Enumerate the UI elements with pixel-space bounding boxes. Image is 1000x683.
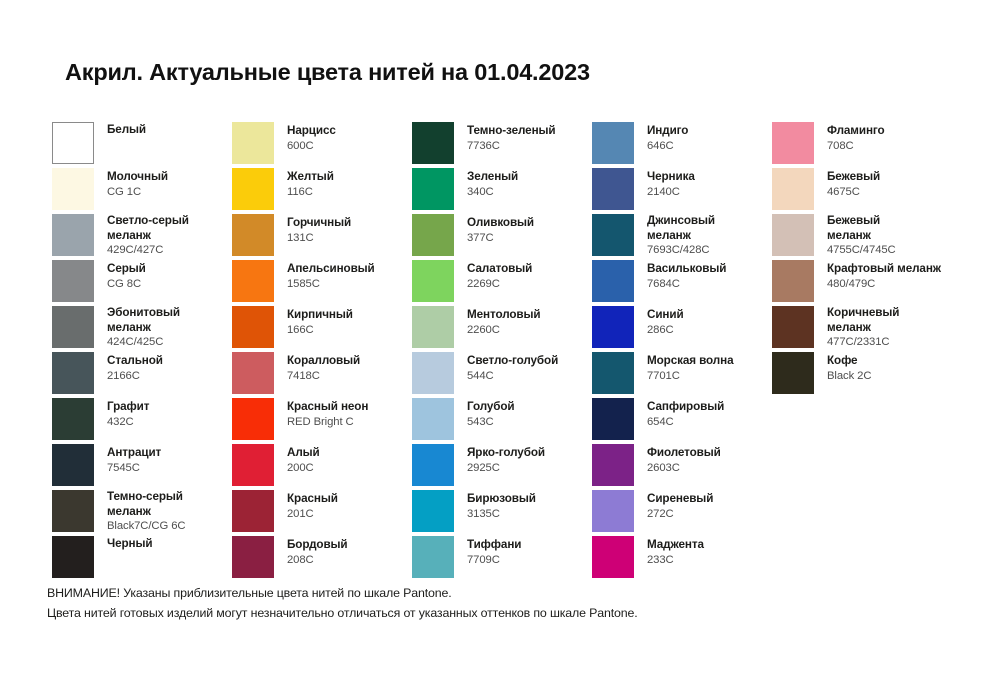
- color-code: 543C: [467, 415, 515, 430]
- color-code: 233C: [647, 553, 704, 568]
- color-name: Бежевый: [827, 214, 896, 229]
- color-code: 286C: [647, 323, 684, 338]
- color-labels: Коралловый7418C: [287, 352, 360, 383]
- color-name: Коричневый: [827, 306, 899, 321]
- color-row[interactable]: Алый200C: [232, 444, 412, 490]
- color-swatch[interactable]: [232, 214, 274, 256]
- color-swatch[interactable]: [772, 352, 814, 394]
- color-name: Сиреневый: [647, 492, 713, 507]
- color-code: 2925C: [467, 461, 545, 476]
- color-code: 201C: [287, 507, 338, 522]
- color-name: Бордовый: [287, 538, 348, 553]
- color-name: меланж: [647, 229, 715, 244]
- color-swatch[interactable]: [412, 260, 454, 302]
- color-row[interactable]: Салатовый2269C: [412, 260, 592, 306]
- color-row[interactable]: Оливковый377C: [412, 214, 592, 260]
- color-swatch[interactable]: [592, 168, 634, 210]
- color-swatch[interactable]: [412, 122, 454, 164]
- color-swatch[interactable]: [52, 260, 94, 302]
- color-name: Алый: [287, 446, 320, 461]
- color-row[interactable]: Ментоловый2260C: [412, 306, 592, 352]
- color-name: Джинсовый: [647, 214, 715, 229]
- color-code: 7736C: [467, 139, 556, 154]
- color-code: Black 2C: [827, 369, 871, 384]
- color-name: Коралловый: [287, 354, 360, 369]
- color-row[interactable]: Темно-зеленый7736C: [412, 122, 592, 168]
- color-swatch[interactable]: [772, 168, 814, 210]
- color-labels: КофеBlack 2C: [827, 352, 871, 383]
- color-labels: Бирюзовый3135C: [467, 490, 536, 521]
- color-row[interactable]: Стальной2166C: [52, 352, 232, 398]
- color-row[interactable]: Эбонитовыймеланж424C/425C: [52, 306, 232, 352]
- color-code: 2166C: [107, 369, 163, 384]
- color-row[interactable]: Желтый116C: [232, 168, 412, 214]
- color-row[interactable]: Васильковый7684C: [592, 260, 772, 306]
- color-code: 2269C: [467, 277, 532, 292]
- color-name: Черника: [647, 170, 695, 185]
- color-swatch[interactable]: [232, 490, 274, 532]
- color-name: Эбонитовый: [107, 306, 180, 321]
- color-labels: Синий286C: [647, 306, 684, 337]
- color-swatch[interactable]: [52, 214, 94, 256]
- color-labels: Ментоловый2260C: [467, 306, 540, 337]
- color-name: Белый: [107, 123, 146, 138]
- color-row[interactable]: Бордовый208C: [232, 536, 412, 582]
- color-name: Оливковый: [467, 216, 534, 231]
- color-swatch[interactable]: [412, 214, 454, 256]
- color-labels: Джинсовыймеланж7693C/428C: [647, 214, 715, 258]
- color-code: 7701C: [647, 369, 734, 384]
- color-code: 429C/427C: [107, 243, 189, 258]
- color-code: 544C: [467, 369, 558, 384]
- color-row[interactable]: МолочныйCG 1C: [52, 168, 232, 214]
- color-labels: Бордовый208C: [287, 536, 348, 567]
- color-labels: Черника2140C: [647, 168, 695, 199]
- color-name: Кирпичный: [287, 308, 353, 323]
- color-code: 2260C: [467, 323, 540, 338]
- color-row[interactable]: Красный201C: [232, 490, 412, 536]
- color-row[interactable]: Апельсиновый1585C: [232, 260, 412, 306]
- color-code: 7545C: [107, 461, 161, 476]
- color-row[interactable]: Горчичный131C: [232, 214, 412, 260]
- color-row[interactable]: Красный неонRED Bright C: [232, 398, 412, 444]
- color-name: Ментоловый: [467, 308, 540, 323]
- color-name: Индиго: [647, 124, 688, 139]
- color-name: Фламинго: [827, 124, 885, 139]
- color-code: Black7C/CG 6C: [107, 519, 185, 534]
- color-swatch[interactable]: [412, 398, 454, 440]
- color-name: Сапфировый: [647, 400, 724, 415]
- color-labels: Светло-голубой544C: [467, 352, 558, 383]
- color-labels: Фиолетовый2603C: [647, 444, 721, 475]
- color-name: Желтый: [287, 170, 334, 185]
- color-code: 477C/2331C: [827, 335, 899, 350]
- color-swatch[interactable]: [592, 398, 634, 440]
- color-swatch[interactable]: [52, 306, 94, 348]
- color-code: 131C: [287, 231, 351, 246]
- disclaimer-line-2: Цвета нитей готовых изделий могут незнач…: [47, 603, 638, 623]
- color-swatch[interactable]: [772, 260, 814, 302]
- color-row[interactable]: Крафтовый меланж480/479C: [772, 260, 972, 306]
- color-row[interactable]: Светло-серыймеланж429C/427C: [52, 214, 232, 260]
- color-labels: Васильковый7684C: [647, 260, 726, 291]
- color-swatch[interactable]: [52, 444, 94, 486]
- color-code: 7709C: [467, 553, 521, 568]
- color-name: Горчичный: [287, 216, 351, 231]
- color-code: 7684C: [647, 277, 726, 292]
- color-swatch[interactable]: [772, 214, 814, 256]
- color-swatch[interactable]: [232, 398, 274, 440]
- color-columns-container: БелыйМолочныйCG 1CСветло-серыймеланж429C…: [52, 122, 972, 582]
- color-name: Фиолетовый: [647, 446, 721, 461]
- color-code: 480/479C: [827, 277, 941, 292]
- color-swatch[interactable]: [232, 306, 274, 348]
- color-name: Салатовый: [467, 262, 532, 277]
- color-code: 377C: [467, 231, 534, 246]
- color-row[interactable]: Графит432C: [52, 398, 232, 444]
- color-name: Антрацит: [107, 446, 161, 461]
- color-labels: Эбонитовыймеланж424C/425C: [107, 306, 180, 350]
- color-labels: Темно-серыймеланжBlack7C/CG 6C: [107, 490, 185, 534]
- color-row[interactable]: Сиреневый272C: [592, 490, 772, 536]
- color-name: Маджента: [647, 538, 704, 553]
- color-labels: Апельсиновый1585C: [287, 260, 375, 291]
- color-code: 3135C: [467, 507, 536, 522]
- color-row[interactable]: Зеленый340C: [412, 168, 592, 214]
- color-name: меланж: [107, 229, 189, 244]
- color-chart-page: Акрил. Актуальные цвета нитей на 01.04.2…: [0, 0, 1000, 683]
- color-swatch[interactable]: [232, 168, 274, 210]
- color-labels: СерыйCG 8C: [107, 260, 146, 291]
- color-code: 1585C: [287, 277, 375, 292]
- disclaimer-footer: ВНИМАНИЕ! Указаны приблизительные цвета …: [47, 583, 638, 623]
- column-2-warm: Нарцисс600CЖелтый116CГорчичный131CАпельс…: [232, 122, 412, 582]
- color-swatch[interactable]: [232, 122, 274, 164]
- color-labels: Белый: [107, 122, 146, 138]
- color-row[interactable]: Коралловый7418C: [232, 352, 412, 398]
- color-swatch[interactable]: [412, 444, 454, 486]
- color-row[interactable]: Нарцисс600C: [232, 122, 412, 168]
- color-labels: Крафтовый меланж480/479C: [827, 260, 941, 291]
- color-swatch[interactable]: [592, 444, 634, 486]
- color-labels: Антрацит7545C: [107, 444, 161, 475]
- color-name: меланж: [827, 321, 899, 336]
- color-labels: Светло-серыймеланж429C/427C: [107, 214, 189, 258]
- color-swatch[interactable]: [52, 490, 94, 532]
- color-row[interactable]: Темно-серыймеланжBlack7C/CG 6C: [52, 490, 232, 536]
- color-labels: Сиреневый272C: [647, 490, 713, 521]
- color-swatch[interactable]: [592, 260, 634, 302]
- color-row[interactable]: Морская волна7701C: [592, 352, 772, 398]
- color-name: Бежевый: [827, 170, 880, 185]
- color-row[interactable]: Голубой543C: [412, 398, 592, 444]
- color-code: 424C/425C: [107, 335, 180, 350]
- color-swatch[interactable]: [52, 352, 94, 394]
- color-row[interactable]: Ярко-голубой2925C: [412, 444, 592, 490]
- color-code: 116C: [287, 185, 334, 200]
- color-labels: Красный неонRED Bright C: [287, 398, 368, 429]
- color-name: Апельсиновый: [287, 262, 375, 277]
- color-swatch[interactable]: [412, 536, 454, 578]
- color-code: 654C: [647, 415, 724, 430]
- color-row[interactable]: Фламинго708C: [772, 122, 972, 168]
- color-code: CG 8C: [107, 277, 146, 292]
- color-name: Темно-серый: [107, 490, 185, 505]
- color-name: Синий: [647, 308, 684, 323]
- color-swatch[interactable]: [592, 306, 634, 348]
- color-labels: МолочныйCG 1C: [107, 168, 168, 199]
- color-labels: Кирпичный166C: [287, 306, 353, 337]
- color-labels: Красный201C: [287, 490, 338, 521]
- column-1-neutrals: БелыйМолочныйCG 1CСветло-серыймеланж429C…: [52, 122, 232, 582]
- color-labels: Ярко-голубой2925C: [467, 444, 545, 475]
- color-row[interactable]: Черника2140C: [592, 168, 772, 214]
- color-swatch[interactable]: [772, 306, 814, 348]
- color-labels: Бежевыймеланж4755C/4745C: [827, 214, 896, 258]
- column-3-greens-blues: Темно-зеленый7736CЗеленый340CОливковый37…: [412, 122, 592, 582]
- color-name: Морская волна: [647, 354, 734, 369]
- disclaimer-line-1: ВНИМАНИЕ! Указаны приблизительные цвета …: [47, 583, 638, 603]
- color-swatch[interactable]: [52, 168, 94, 210]
- page-title: Акрил. Актуальные цвета нитей на 01.04.2…: [65, 59, 590, 86]
- color-name: Серый: [107, 262, 146, 277]
- color-labels: Сапфировый654C: [647, 398, 724, 429]
- color-labels: Фламинго708C: [827, 122, 885, 153]
- color-labels: Горчичный131C: [287, 214, 351, 245]
- color-code: 7693C/428C: [647, 243, 715, 258]
- color-labels: Голубой543C: [467, 398, 515, 429]
- color-labels: Тиффани7709C: [467, 536, 521, 567]
- color-code: 600C: [287, 139, 336, 154]
- color-labels: Алый200C: [287, 444, 320, 475]
- color-code: 2140C: [647, 185, 695, 200]
- color-swatch[interactable]: [412, 306, 454, 348]
- color-row[interactable]: Бежевыймеланж4755C/4745C: [772, 214, 972, 260]
- color-row[interactable]: Синий286C: [592, 306, 772, 352]
- color-row[interactable]: Индиго646C: [592, 122, 772, 168]
- color-swatch[interactable]: [592, 214, 634, 256]
- color-row[interactable]: Бирюзовый3135C: [412, 490, 592, 536]
- color-row[interactable]: Коричневыймеланж477C/2331C: [772, 306, 972, 352]
- color-swatch[interactable]: [772, 122, 814, 164]
- color-swatch[interactable]: [232, 260, 274, 302]
- color-swatch[interactable]: [592, 352, 634, 394]
- color-labels: Маджента233C: [647, 536, 704, 567]
- color-name: меланж: [107, 321, 180, 336]
- color-row[interactable]: Кирпичный166C: [232, 306, 412, 352]
- color-code: 208C: [287, 553, 348, 568]
- color-name: Тиффани: [467, 538, 521, 553]
- color-name: Черный: [107, 537, 152, 552]
- color-name: Темно-зеленый: [467, 124, 556, 139]
- color-swatch[interactable]: [232, 444, 274, 486]
- color-labels: Индиго646C: [647, 122, 688, 153]
- color-name: Красный: [287, 492, 338, 507]
- color-name: меланж: [827, 229, 896, 244]
- color-labels: Нарцисс600C: [287, 122, 336, 153]
- color-code: 4675C: [827, 185, 880, 200]
- color-name: меланж: [107, 505, 185, 520]
- color-row[interactable]: Тиффани7709C: [412, 536, 592, 582]
- color-row[interactable]: Сапфировый654C: [592, 398, 772, 444]
- color-code: 646C: [647, 139, 688, 154]
- color-labels: Зеленый340C: [467, 168, 518, 199]
- color-labels: Стальной2166C: [107, 352, 163, 383]
- color-name: Нарцисс: [287, 124, 336, 139]
- color-code: 166C: [287, 323, 353, 338]
- color-name: Васильковый: [647, 262, 726, 277]
- color-name: Стальной: [107, 354, 163, 369]
- color-code: 7418C: [287, 369, 360, 384]
- color-row[interactable]: Черный: [52, 536, 232, 582]
- color-name: Графит: [107, 400, 149, 415]
- color-labels: Черный: [107, 536, 152, 552]
- color-labels: Бежевый4675C: [827, 168, 880, 199]
- color-code: 708C: [827, 139, 885, 154]
- color-name: Кофе: [827, 354, 871, 369]
- color-row[interactable]: Светло-голубой544C: [412, 352, 592, 398]
- color-swatch[interactable]: [412, 168, 454, 210]
- color-row[interactable]: КофеBlack 2C: [772, 352, 972, 398]
- color-row[interactable]: Белый: [52, 122, 232, 168]
- color-name: Светло-голубой: [467, 354, 558, 369]
- color-row[interactable]: Маджента233C: [592, 536, 772, 582]
- color-row[interactable]: СерыйCG 8C: [52, 260, 232, 306]
- color-code: 272C: [647, 507, 713, 522]
- color-name: Молочный: [107, 170, 168, 185]
- color-code: 2603C: [647, 461, 721, 476]
- color-labels: Коричневыймеланж477C/2331C: [827, 306, 899, 350]
- color-row[interactable]: Бежевый4675C: [772, 168, 972, 214]
- color-labels: Желтый116C: [287, 168, 334, 199]
- color-swatch[interactable]: [592, 122, 634, 164]
- column-5-pinks-browns: Фламинго708CБежевый4675CБежевыймеланж475…: [772, 122, 972, 398]
- color-name: Крафтовый меланж: [827, 262, 941, 277]
- color-code: 4755C/4745C: [827, 243, 896, 258]
- color-swatch[interactable]: [52, 122, 94, 164]
- color-name: Бирюзовый: [467, 492, 536, 507]
- color-swatch[interactable]: [412, 352, 454, 394]
- color-swatch[interactable]: [52, 398, 94, 440]
- color-swatch[interactable]: [592, 490, 634, 532]
- color-name: Светло-серый: [107, 214, 189, 229]
- color-swatch[interactable]: [412, 490, 454, 532]
- color-code: 432C: [107, 415, 149, 430]
- color-code: RED Bright C: [287, 415, 368, 430]
- color-labels: Темно-зеленый7736C: [467, 122, 556, 153]
- color-row[interactable]: Антрацит7545C: [52, 444, 232, 490]
- color-labels: Морская волна7701C: [647, 352, 734, 383]
- color-code: CG 1C: [107, 185, 168, 200]
- color-swatch[interactable]: [232, 536, 274, 578]
- color-name: Голубой: [467, 400, 515, 415]
- color-row[interactable]: Фиолетовый2603C: [592, 444, 772, 490]
- color-labels: Оливковый377C: [467, 214, 534, 245]
- color-name: Ярко-голубой: [467, 446, 545, 461]
- color-name: Зеленый: [467, 170, 518, 185]
- column-4-blues-purples: Индиго646CЧерника2140CДжинсовыймеланж769…: [592, 122, 772, 582]
- color-labels: Графит432C: [107, 398, 149, 429]
- color-swatch[interactable]: [232, 352, 274, 394]
- color-code: 340C: [467, 185, 518, 200]
- color-code: 200C: [287, 461, 320, 476]
- color-name: Красный неон: [287, 400, 368, 415]
- color-swatch[interactable]: [52, 536, 94, 578]
- color-row[interactable]: Джинсовыймеланж7693C/428C: [592, 214, 772, 260]
- color-swatch[interactable]: [592, 536, 634, 578]
- color-labels: Салатовый2269C: [467, 260, 532, 291]
